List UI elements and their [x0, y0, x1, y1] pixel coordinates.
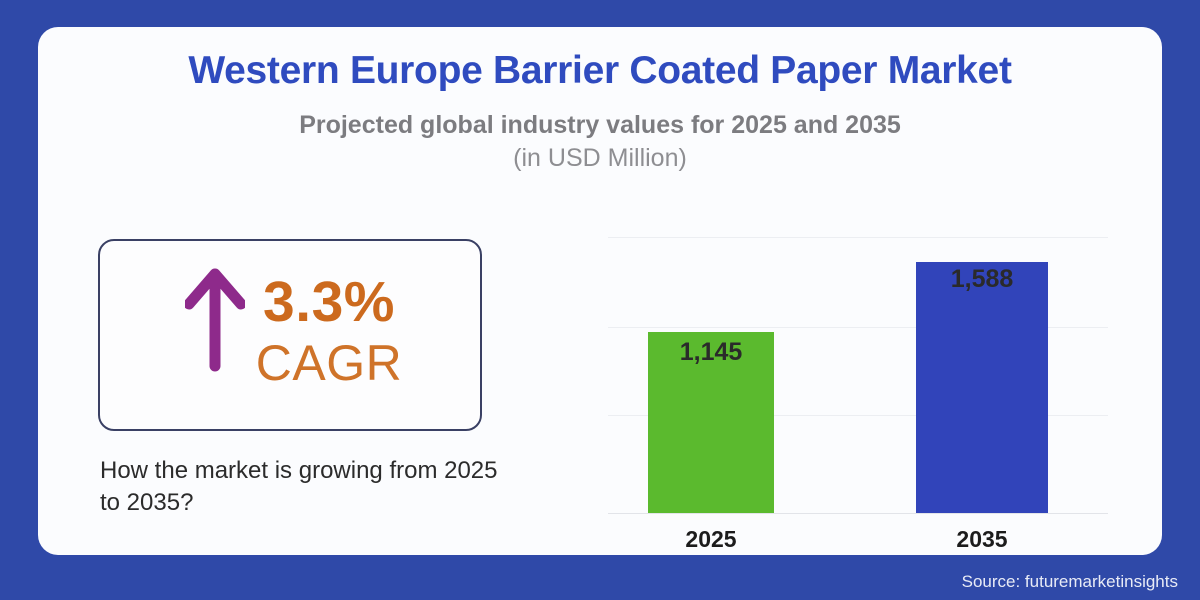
cagr-text-group: 3.3% CAGR	[256, 273, 402, 392]
growth-caption: How the market is growing from 2025 to 2…	[100, 455, 520, 520]
cagr-label: CAGR	[256, 336, 402, 391]
cagr-card: 3.3% CAGR	[98, 239, 482, 431]
axis-baseline	[608, 513, 1108, 514]
cagr-value: 3.3%	[263, 273, 395, 333]
bar-value-2035: 1,588	[882, 265, 1082, 294]
bar-chart: 1,145 2025 1,588 2035	[608, 187, 1108, 555]
plot-area: 1,145 2025 1,588 2035	[608, 237, 1108, 514]
source-attribution: Source: futuremarketinsights	[962, 572, 1178, 592]
bar-value-2025: 1,145	[611, 338, 811, 367]
gridline	[608, 237, 1108, 238]
page-title: Western Europe Barrier Coated Paper Mark…	[38, 49, 1162, 93]
bar-2035[interactable]	[916, 262, 1048, 513]
arrow-up-icon	[178, 268, 252, 372]
bar-category-2025: 2025	[611, 526, 811, 553]
infographic-root: Western Europe Barrier Coated Paper Mark…	[0, 0, 1200, 600]
page-subtitle-units: (in USD Million)	[38, 144, 1162, 173]
content-panel: Western Europe Barrier Coated Paper Mark…	[38, 27, 1162, 555]
page-subtitle: Projected global industry values for 202…	[38, 111, 1162, 140]
bar-category-2035: 2035	[882, 526, 1082, 553]
